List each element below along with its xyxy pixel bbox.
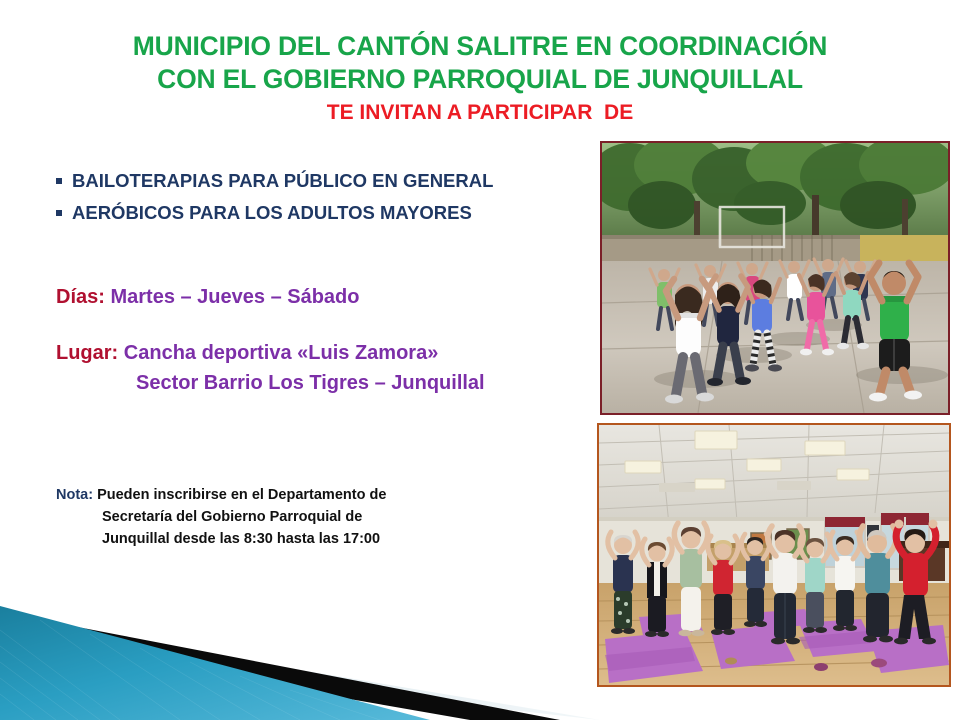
venue-value-2: Sector Barrio Los Tigres – Junquillal [136,372,485,394]
square-bullet-icon [56,205,72,218]
list-item: BAILOTERAPIAS PARA PÚBLICO EN GENERAL [56,168,596,194]
days-row: Días: Martes – Jueves – Sábado [56,282,596,312]
poster-slide: MUNICIPIO DEL CANTÓN SALITRE EN COORDINA… [0,0,960,720]
corner-decoration [0,590,600,720]
venue-row-second: Sector Barrio Los Tigres – Junquillal [56,368,596,398]
note-first-line: Nota: Pueden inscribirse en el Departame… [56,484,516,506]
outdoor-dance-class-photo [600,141,950,415]
triangle-decoration-shape [0,590,600,720]
venue-label: Lugar: [56,342,118,364]
note-second-line: Secretaría del Gobierno Parroquial de [56,506,516,528]
indoor-aerobics-illustration [599,425,949,685]
list-item: AERÓBICOS PARA LOS ADULTOS MAYORES [56,200,596,226]
title-block: MUNICIPIO DEL CANTÓN SALITRE EN COORDINA… [0,30,960,128]
note-text-1: Pueden inscribirse en el Departamento de [97,487,386,503]
list-item-label: AERÓBICOS PARA LOS ADULTOS MAYORES [72,200,472,226]
event-details: Días: Martes – Jueves – Sábado Lugar: Ca… [56,282,596,398]
note-text-2: Secretaría del Gobierno Parroquial de [102,509,362,525]
venue-value: Cancha deportiva «Luis Zamora» [124,342,439,364]
list-item-label: BAILOTERAPIAS PARA PÚBLICO EN GENERAL [72,168,493,194]
title-line-2: CON EL GOBIERNO PARROQUIAL DE JUNQUILLAL [0,63,960,96]
note-block: Nota: Pueden inscribirse en el Departame… [56,484,516,550]
venue-row: Lugar: Cancha deportiva «Luis Zamora» [56,338,596,368]
days-label: Días: [56,286,105,308]
note-third-line: Junquillal desde las 8:30 hasta las 17:0… [56,528,516,550]
note-label: Nota: [56,487,93,503]
outdoor-dance-illustration [602,143,948,413]
days-value: Martes – Jueves – Sábado [110,286,359,308]
square-bullet-icon [56,173,72,186]
title-line-1: MUNICIPIO DEL CANTÓN SALITRE EN COORDINA… [0,30,960,63]
note-text-3: Junquillal desde las 8:30 hasta las 17:0… [102,531,380,547]
indoor-seniors-aerobics-photo [597,423,951,687]
spacer [56,312,596,338]
activities-list: BAILOTERAPIAS PARA PÚBLICO EN GENERAL AE… [56,168,596,232]
title-subtitle: TE INVITAN A PARTICIPAR DE [0,98,960,128]
